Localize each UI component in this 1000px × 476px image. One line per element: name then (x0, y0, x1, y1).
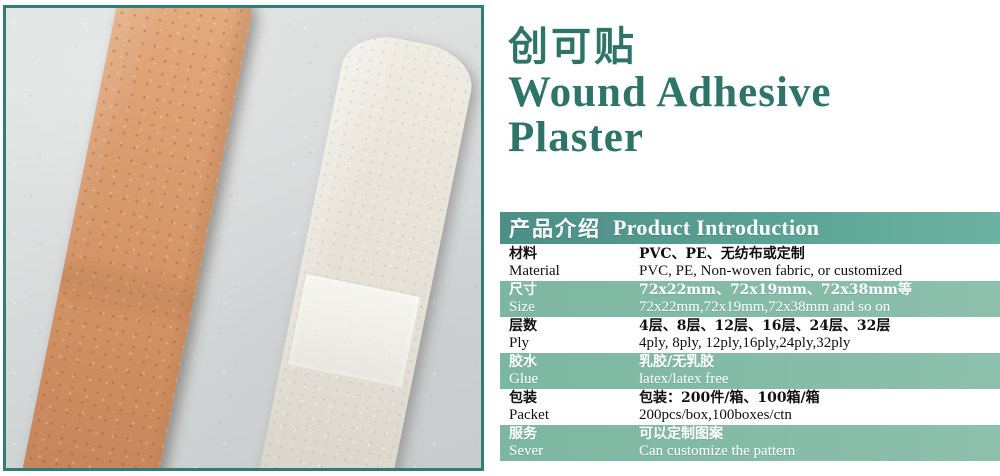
spec-value-chinese: PVC、PE、无纺布或定制 (639, 246, 1000, 263)
spec-value-ply: 4层、8层、12层、16层、24层、32层 4ply, 8ply, 12ply,… (639, 318, 1000, 352)
spec-value-glue: 乳胶/无乳胶 latex/latex free (639, 354, 1000, 388)
spec-label-chinese: 材料 (509, 246, 639, 263)
spec-value-english: PVC, PE, Non-woven fabric, or customized (639, 263, 1000, 280)
spec-value-chinese: 72x22mm、72x19mm、72x38mm等 (639, 282, 1000, 299)
spec-value-chinese: 乳胶/无乳胶 (639, 354, 1000, 371)
spec-value-packet: 包装：200件/箱、100箱/箱 200pcs/box,100boxes/ctn (639, 390, 1000, 424)
spec-label-chinese: 服务 (509, 426, 639, 443)
specification-table: 材料 Material PVC、PE、无纺布或定制 PVC, PE, Non-w… (500, 245, 1000, 461)
section-header-english: Product Introduction (613, 215, 819, 241)
product-title-chinese: 创可贴 (508, 24, 988, 70)
spec-label-english: Sever (509, 443, 639, 460)
spec-label-english: Packet (509, 407, 639, 424)
table-row: 尺寸 Size 72x22mm、72x19mm、72x38mm等 72x22mm… (500, 281, 1000, 317)
spec-label-material: 材料 Material (509, 246, 639, 280)
spec-label-english: Glue (509, 371, 639, 388)
spec-value-chinese: 4层、8层、12层、16层、24层、32层 (639, 318, 1000, 335)
product-photo (3, 5, 484, 471)
spec-label-size: 尺寸 Size (509, 282, 639, 316)
spec-value-english: 4ply, 8ply, 12ply,16ply,24ply,32ply (639, 335, 1000, 352)
table-row: 服务 Sever 可以定制图案 Can customize the patter… (500, 425, 1000, 461)
table-row: 层数 Ply 4层、8层、12层、16层、24层、32层 4ply, 8ply,… (500, 317, 1000, 353)
spec-label-server: 服务 Sever (509, 426, 639, 460)
section-header-product-introduction: 产品介绍 Product Introduction (500, 212, 1000, 244)
spec-value-english: Can customize the pattern (639, 443, 1000, 460)
product-info-panel: 创可贴 Wound Adhesive Plaster 产品介绍 Product … (497, 0, 1000, 476)
spec-label-ply: 层数 Ply (509, 318, 639, 352)
spec-value-size: 72x22mm、72x19mm、72x38mm等 72x22mm,72x19mm… (639, 282, 1000, 316)
spec-value-english: latex/latex free (639, 371, 1000, 388)
spec-value-server: 可以定制图案 Can customize the pattern (639, 426, 1000, 460)
spec-value-chinese: 可以定制图案 (639, 426, 1000, 443)
bandage-absorbent-pad (287, 273, 421, 389)
table-row: 包装 Packet 包装：200件/箱、100箱/箱 200pcs/box,10… (500, 389, 1000, 425)
spec-label-english: Size (509, 299, 639, 316)
spec-label-english: Material (509, 263, 639, 280)
spec-label-chinese: 胶水 (509, 354, 639, 371)
spec-value-english: 72x22mm,72x19mm,72x38mm and so on (639, 299, 1000, 316)
table-row: 胶水 Glue 乳胶/无乳胶 latex/latex free (500, 353, 1000, 389)
spec-label-english: Ply (509, 335, 639, 352)
spec-value-chinese: 包装：200件/箱、100箱/箱 (639, 390, 1000, 407)
spec-value-material: PVC、PE、无纺布或定制 PVC, PE, Non-woven fabric,… (639, 246, 1000, 280)
product-title-block: 创可贴 Wound Adhesive Plaster (508, 24, 988, 160)
spec-label-chinese: 尺寸 (509, 282, 639, 299)
section-header-chinese: 产品介绍 (509, 213, 601, 243)
spec-label-chinese: 层数 (509, 318, 639, 335)
product-title-english-line1: Wound Adhesive (508, 70, 988, 115)
spec-value-english: 200pcs/box,100boxes/ctn (639, 407, 1000, 424)
table-row: 材料 Material PVC、PE、无纺布或定制 PVC, PE, Non-w… (500, 245, 1000, 281)
product-title-english-line2: Plaster (508, 115, 988, 160)
spec-label-glue: 胶水 Glue (509, 354, 639, 388)
spec-label-chinese: 包装 (509, 390, 639, 407)
spec-label-packet: 包装 Packet (509, 390, 639, 424)
